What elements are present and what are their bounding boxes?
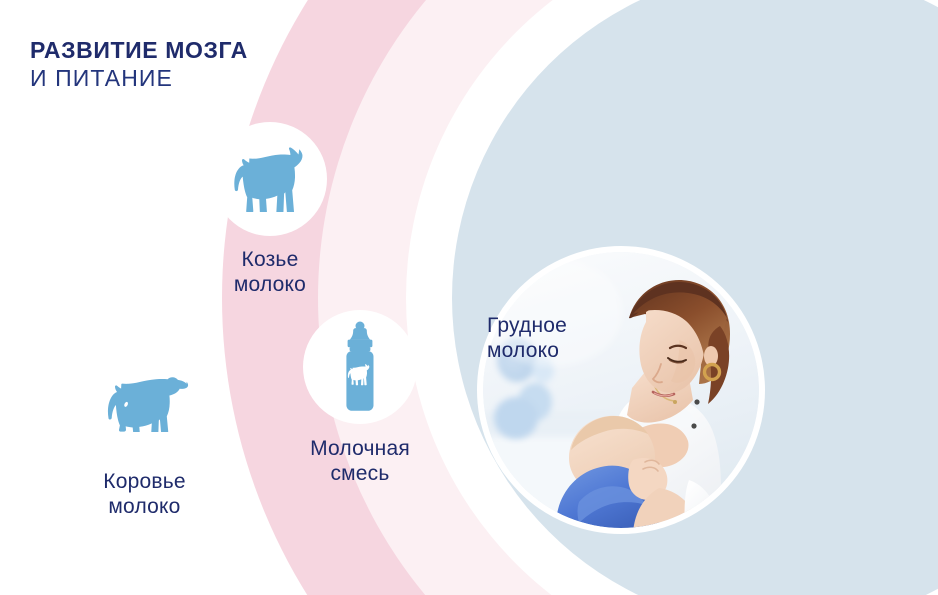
node-milk-formula-label: Молочная смесь [280,437,440,487]
node-breast-milk-label-line1: Грудное [487,313,637,338]
node-goat-milk-label: Козье молоко [190,248,350,298]
node-cow-milk-label-line1: Коровье [62,470,227,495]
mother-baby-photo [483,252,759,528]
node-breast-milk-label-line2: молоко [487,338,637,363]
page-title: РАЗВИТИЕ МОЗГА И ПИТАНИЕ [30,38,248,92]
node-goat-milk[interactable] [213,122,327,236]
infographic-canvas: РАЗВИТИЕ МОЗГА И ПИТАНИЕ Козье молоко Ко… [0,0,938,595]
baby-bottle-icon [337,321,383,413]
node-milk-formula[interactable] [303,310,417,424]
node-cow-milk[interactable] [88,343,203,458]
node-milk-formula-label-line2: смесь [280,462,440,487]
node-breast-milk-photo[interactable] [477,246,765,534]
node-goat-milk-label-line1: Козье [190,248,350,273]
node-breast-milk-label: Грудное молоко [487,313,637,363]
cow-icon [102,370,190,432]
title-line-secondary: И ПИТАНИЕ [30,66,248,92]
node-milk-formula-label-line1: Молочная [280,437,440,462]
node-goat-milk-label-line2: молоко [190,273,350,298]
node-cow-milk-label: Коровье молоко [62,470,227,520]
node-cow-milk-label-line2: молоко [62,495,227,520]
goat-icon [228,146,312,212]
title-line-primary: РАЗВИТИЕ МОЗГА [30,38,248,64]
